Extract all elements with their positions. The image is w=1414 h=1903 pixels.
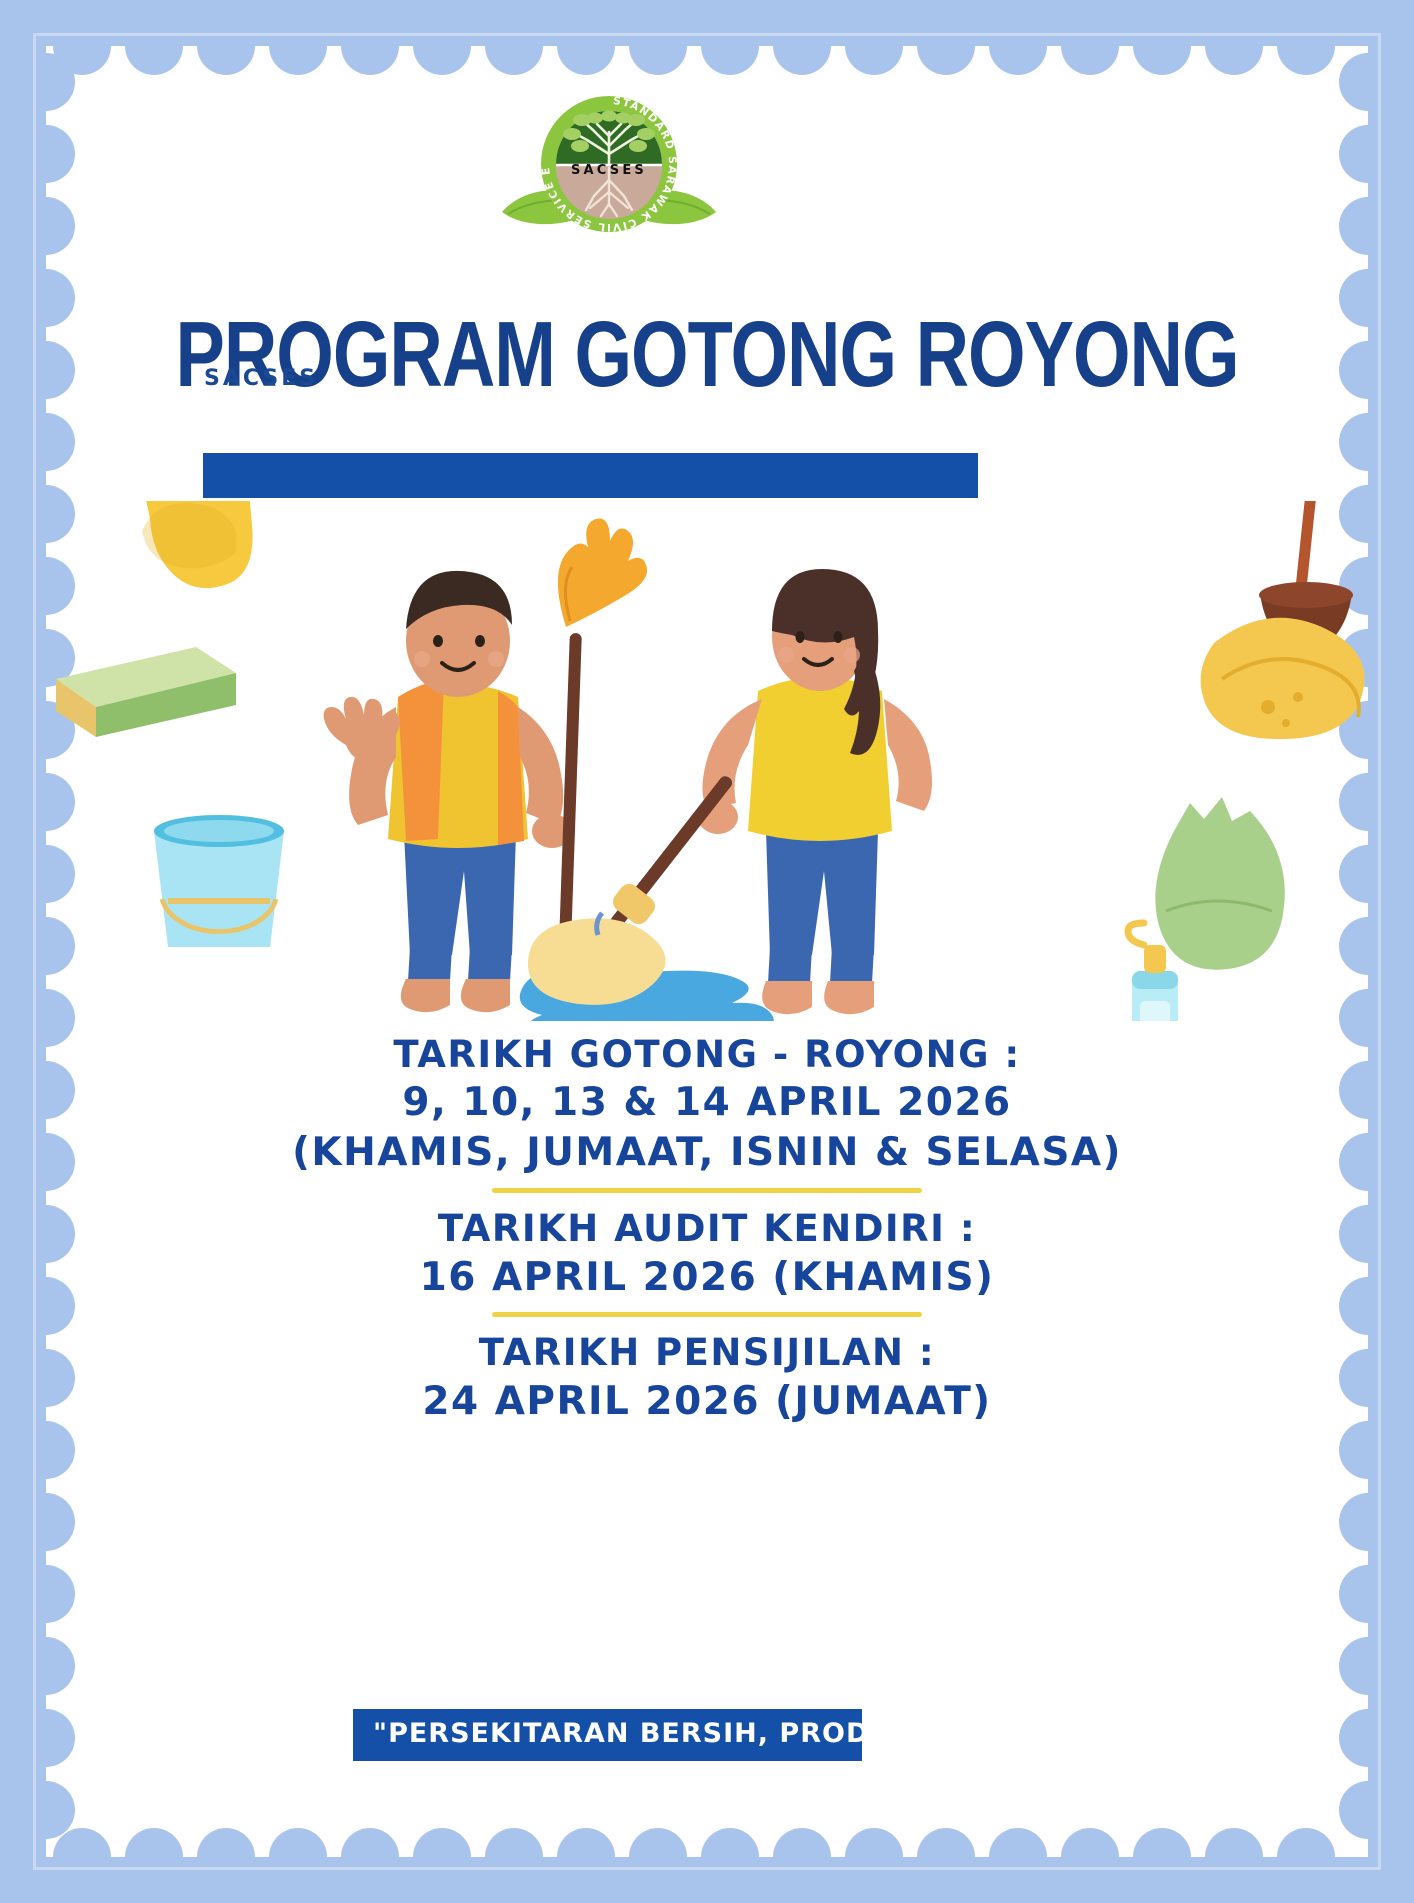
woman-with-mop-figure: [528, 569, 932, 1014]
divider-1: [492, 1188, 922, 1193]
frame-guide-line: [1378, 33, 1381, 1870]
gotong-royong-days: (KHAMIS, JUMAAT, ISNIN & SELASA): [46, 1128, 1368, 1178]
mop-head-icon: [528, 880, 666, 1005]
logo-center-text: SACSES: [571, 163, 647, 178]
dates-section: TARIKH GOTONG - ROYONG : 9, 10, 13 & 14 …: [46, 1031, 1368, 1427]
frame-guide-line: [33, 33, 1381, 36]
frame-guide-line: [33, 33, 36, 1870]
yellow-glove-icon: [137, 501, 253, 588]
gotong-royong-date: 9, 10, 13 & 14 APRIL 2026: [46, 1078, 1368, 1128]
sacses-logo: SACSES STANDARD SARAWAK CIVIL SERVICE EN…: [494, 94, 724, 254]
pensijilan-label: TARIKH PENSIJILAN :: [46, 1329, 1368, 1376]
frame-guide-line: [33, 1867, 1381, 1870]
audit-date: 16 APRIL 2026 (KHAMIS): [46, 1253, 1368, 1303]
cleaning-illustration: [46, 501, 1368, 1021]
gotong-royong-label: TARIKH GOTONG - ROYONG :: [46, 1031, 1368, 1078]
yellow-sponge-icon: [1201, 618, 1365, 739]
divider-2: [492, 1312, 922, 1317]
blue-bucket-icon: [154, 815, 284, 947]
poster-content: SACSES STANDARD SARAWAK CIVIL SERVICE EN…: [46, 46, 1368, 1857]
pensijilan-date: 24 APRIL 2026 (JUMAAT): [46, 1377, 1368, 1427]
page-subtitle: SACSES: [204, 366, 318, 391]
page-title: PROGRAM GOTONG ROYONG: [46, 301, 1368, 407]
accent-bar: [203, 453, 978, 498]
green-sponge-icon: [56, 647, 236, 737]
tagline-text: "PERSEKITARAN BERSIH, PRODUKTIVITI MENIN…: [373, 1718, 862, 1749]
green-trash-bag-icon: [1155, 797, 1284, 970]
tagline-banner: "PERSEKITARAN BERSIH, PRODUKTIVITI MENIN…: [353, 1709, 862, 1761]
audit-label: TARIKH AUDIT KENDIRI :: [46, 1205, 1368, 1252]
